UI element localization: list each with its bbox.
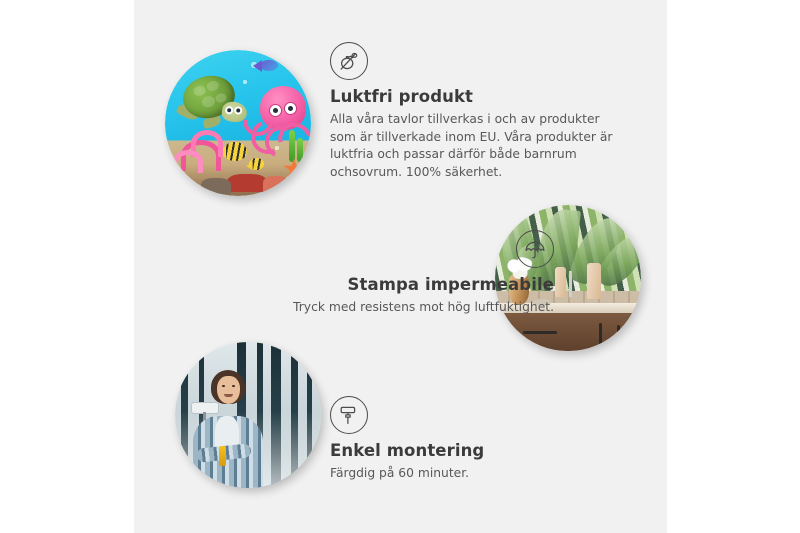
feature-easy-install: Enkel montering Färgdig på 60 minuter. bbox=[330, 396, 630, 483]
paint-roller-glyph bbox=[337, 403, 361, 427]
feature-title: Luktfri produkt bbox=[330, 87, 635, 106]
no-odour-glyph bbox=[337, 49, 361, 73]
product-feature-panel: Luktfri produkt Alla våra tavlor tillver… bbox=[0, 0, 800, 533]
paint-roller-icon bbox=[330, 396, 368, 434]
feature-waterproof: Stampa impermeabile Tryck med resistens … bbox=[220, 230, 554, 317]
no-odour-perfume-bottle-icon bbox=[330, 42, 368, 80]
feature-title: Enkel montering bbox=[330, 441, 630, 460]
umbrella-icon bbox=[516, 230, 554, 268]
feature-odorless: Luktfri produkt Alla våra tavlor tillver… bbox=[330, 42, 635, 181]
feature-title: Stampa impermeabile bbox=[220, 275, 554, 294]
product-photo-ocean bbox=[165, 50, 311, 196]
umbrella-glyph bbox=[523, 237, 547, 261]
forest-scene bbox=[175, 342, 321, 488]
feature-body: Tryck med resistens mot hög luftfuktighe… bbox=[220, 299, 554, 317]
ocean-scene bbox=[165, 50, 311, 196]
feature-body: Färgdig på 60 minuter. bbox=[330, 465, 630, 483]
feature-body: Alla våra tavlor tillverkas i och av pro… bbox=[330, 111, 626, 181]
content-canvas: Luktfri produkt Alla våra tavlor tillver… bbox=[134, 0, 667, 533]
product-photo-forest bbox=[175, 342, 321, 488]
